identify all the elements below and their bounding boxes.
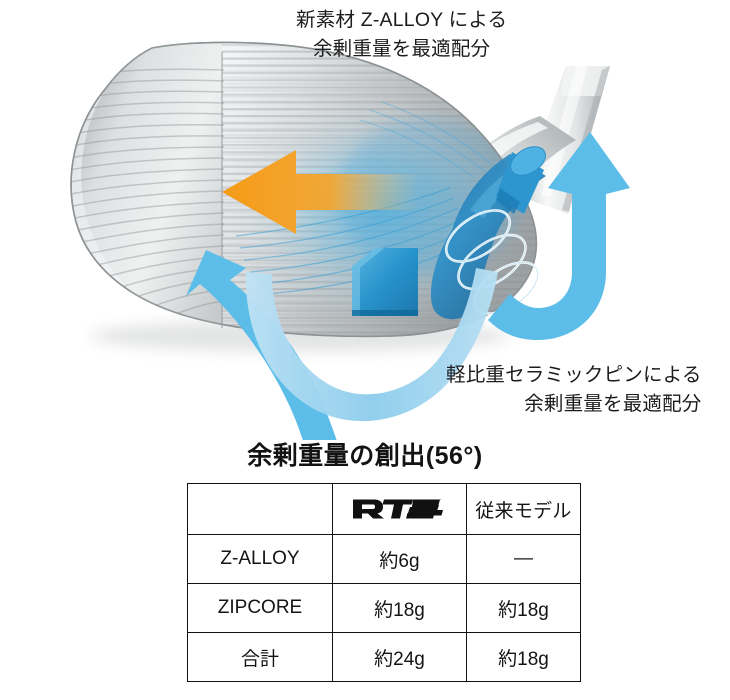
cell-legacy-total: 約18g <box>467 633 581 682</box>
annotation-bottom-line2: 余剰重量を最適配分 <box>446 390 702 419</box>
row-label-zipcore: ZIPCORE <box>188 584 333 633</box>
cell-legacy-zipcore: 約18g <box>467 584 581 633</box>
cell-legacy-z-alloy: — <box>467 535 581 584</box>
table-row: Z-ALLOY 約6g — <box>188 535 581 584</box>
annotation-top: 新素材 Z-ALLOY による 余剰重量を最適配分 <box>296 6 507 64</box>
table-heading: 余剰重量の創出(56°) <box>0 436 730 472</box>
weight-comparison-table: 従来モデル Z-ALLOY 約6g — ZIPCORE 約18g 約18g 合計… <box>187 483 581 682</box>
header-cell-rtz <box>333 484 467 535</box>
header-cell-blank <box>188 484 333 535</box>
rtz-logo-icon <box>351 496 449 522</box>
annotation-bottom: 軽比重セラミックピンによる 余剰重量を最適配分 <box>446 361 702 419</box>
row-label-z-alloy: Z-ALLOY <box>188 535 333 584</box>
annotation-top-line2: 余剰重量を最適配分 <box>296 35 507 64</box>
header-cell-legacy: 従来モデル <box>467 484 581 535</box>
cell-rtz-zipcore: 約18g <box>333 584 467 633</box>
annotation-bottom-line1: 軽比重セラミックピンによる <box>446 361 702 390</box>
table-row: 合計 約24g 約18g <box>188 633 581 682</box>
cell-rtz-total: 約24g <box>333 633 467 682</box>
cell-rtz-z-alloy: 約6g <box>333 535 467 584</box>
table-row: ZIPCORE 約18g 約18g <box>188 584 581 633</box>
row-label-total: 合計 <box>188 633 333 682</box>
wedge-illustration-figure: 新素材 Z-ALLOY による 余剰重量を最適配分 軽比重セラミックピンによる … <box>0 0 730 440</box>
table-header-row: 従来モデル <box>188 484 581 535</box>
annotation-top-line1: 新素材 Z-ALLOY による <box>296 6 507 35</box>
